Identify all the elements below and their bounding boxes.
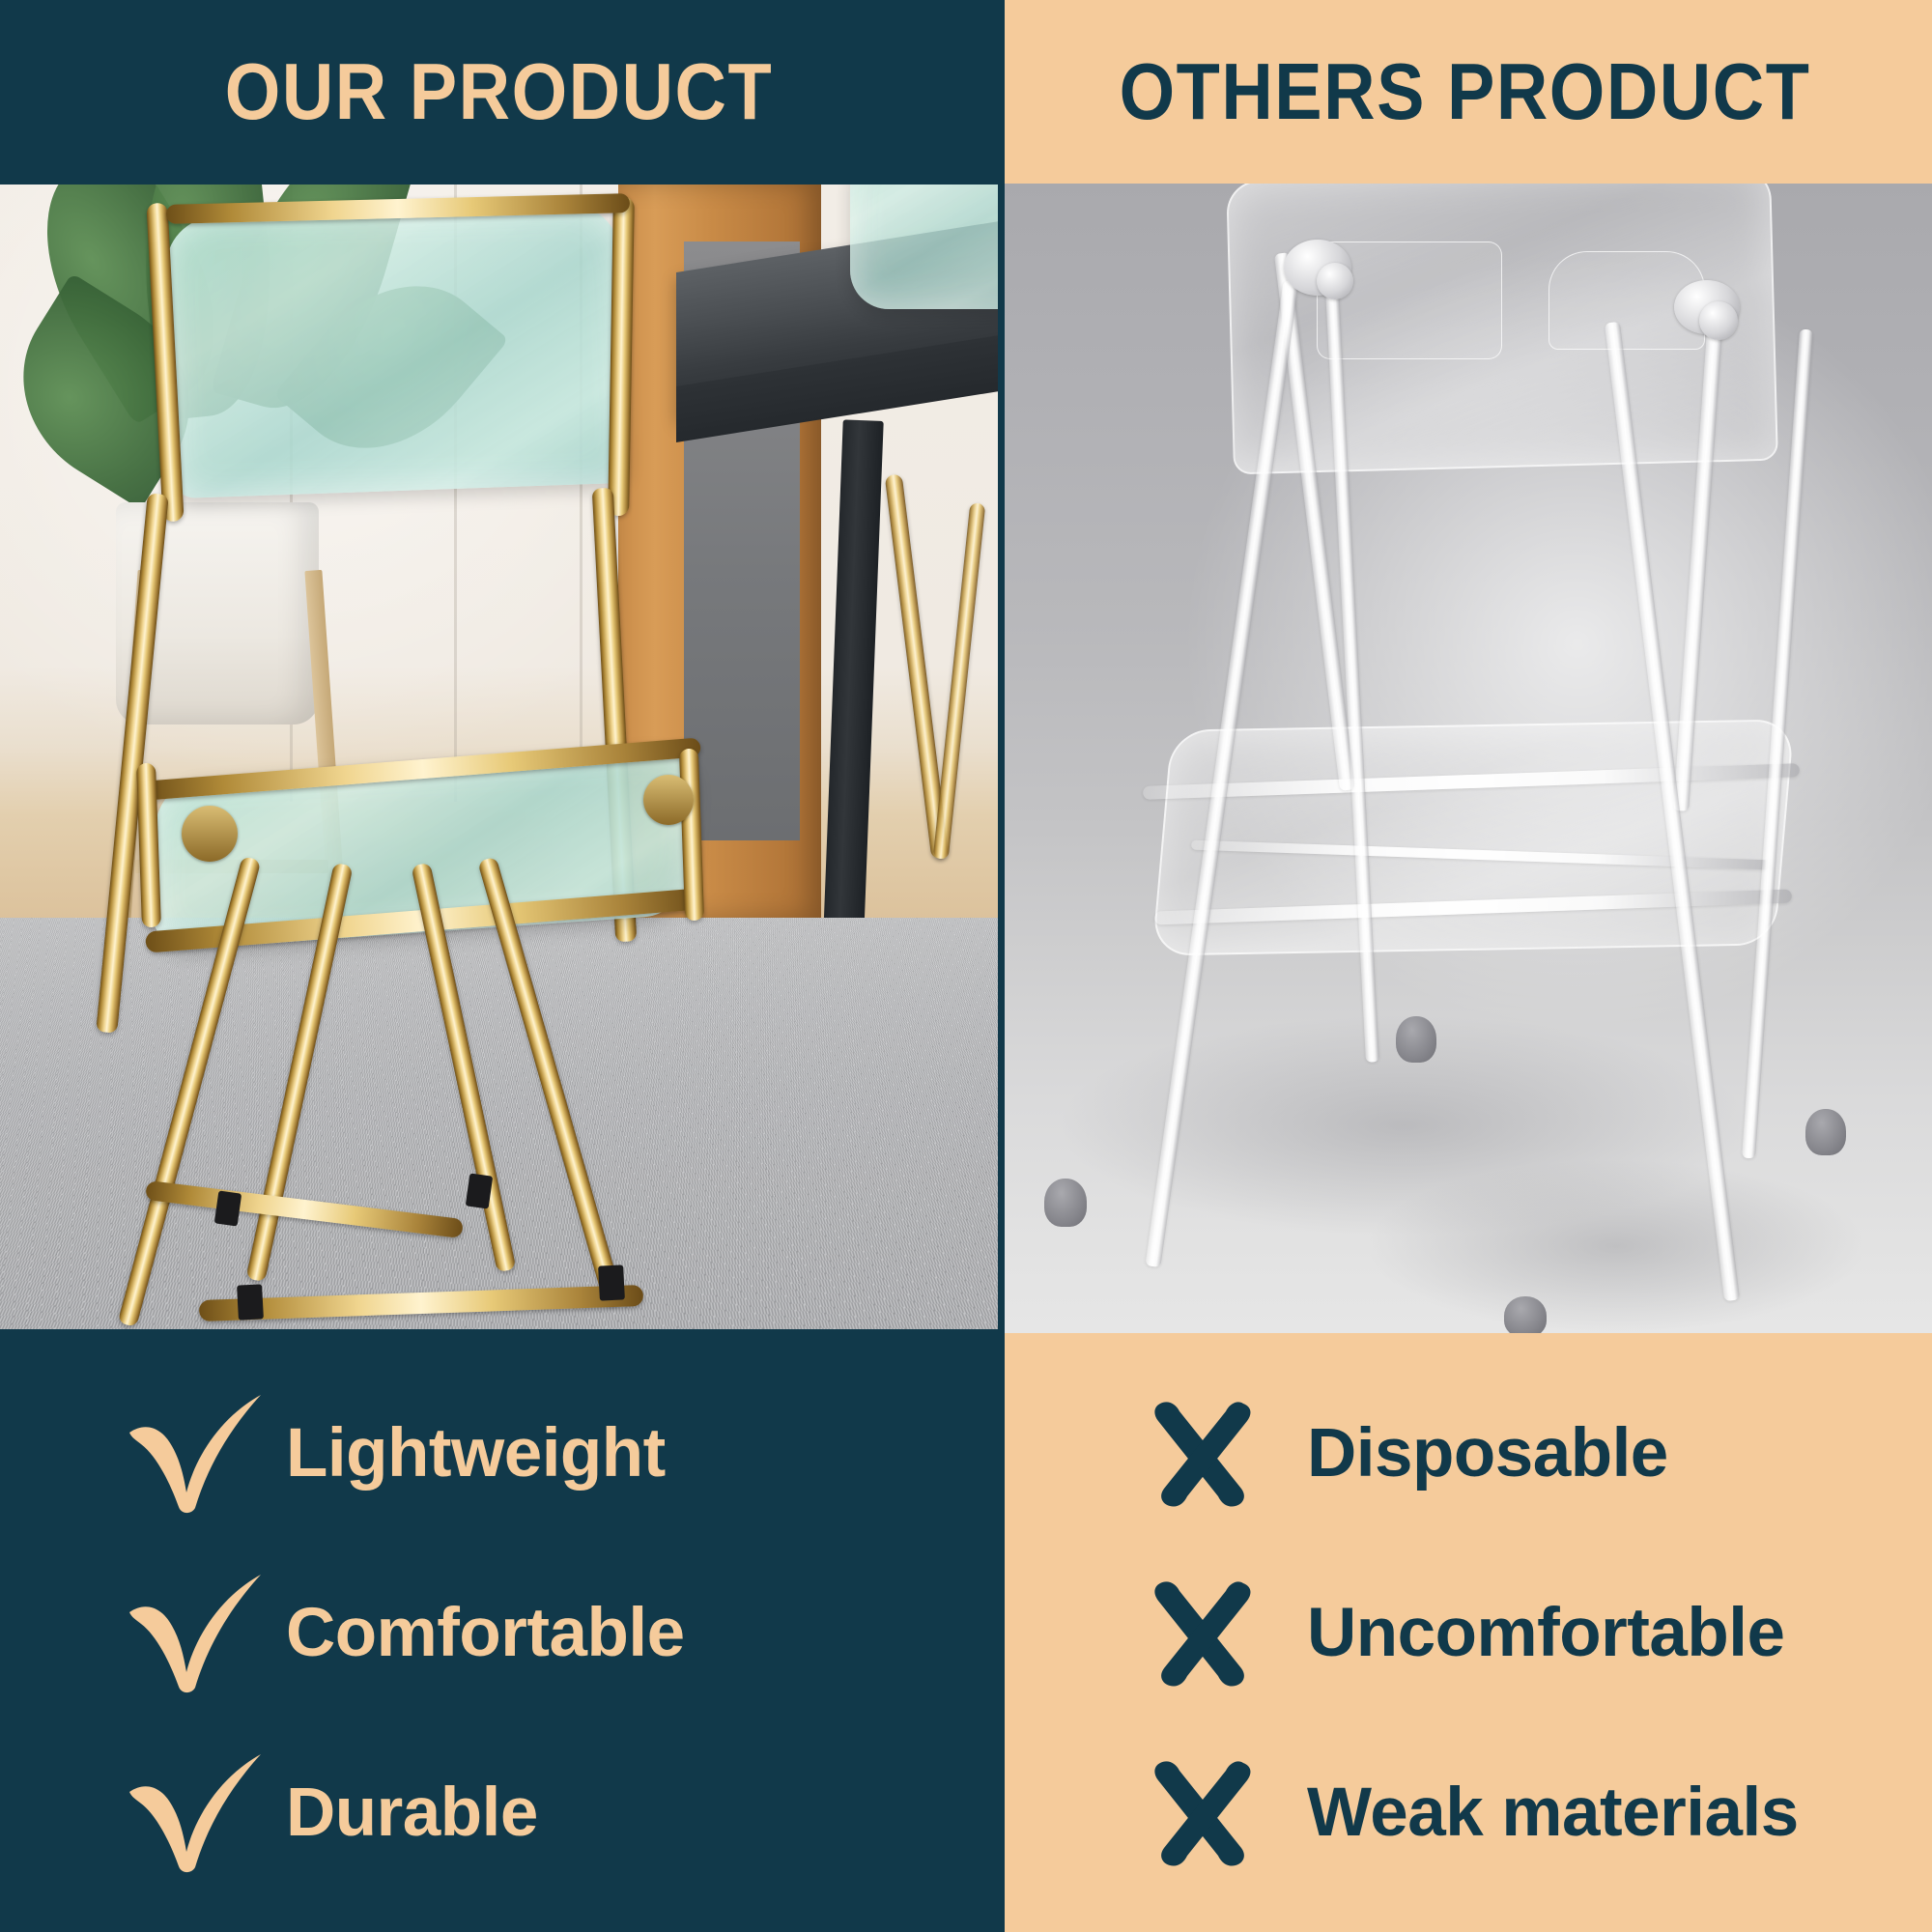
chair-backrest-acrylic xyxy=(164,203,628,498)
chair-back-right-post xyxy=(608,197,635,516)
chair-foot-cap xyxy=(237,1284,264,1320)
feature-label: Lightweight xyxy=(286,1419,666,1488)
our-product-panel: OUR PRODUCT xyxy=(0,0,998,1932)
others-product-panel: OTHERS PRODUCT xyxy=(998,0,1932,1932)
check-icon xyxy=(124,1390,286,1516)
left-photo-top-border xyxy=(0,180,998,185)
chair-front-floor-runner xyxy=(199,1285,643,1321)
our-product-title: OUR PRODUCT xyxy=(225,52,773,132)
feature-row-uncomfortable: Uncomfortable xyxy=(1145,1543,1932,1722)
feature-row-weak-materials: Weak materials xyxy=(1145,1722,1932,1902)
chair-left-hinge xyxy=(182,806,238,862)
rubber-foot xyxy=(1504,1296,1547,1333)
others-product-title: OTHERS PRODUCT xyxy=(1120,52,1811,132)
others-product-feature-list: Disposable Uncomfortable xyxy=(998,1333,1932,1932)
second-chair-leg xyxy=(933,502,986,860)
check-icon xyxy=(124,1570,286,1695)
feature-row-lightweight: Lightweight xyxy=(124,1363,998,1543)
others-product-header: OTHERS PRODUCT xyxy=(998,0,1932,184)
feature-label: Durable xyxy=(286,1778,538,1847)
chair-rear-floor-runner xyxy=(145,1180,464,1238)
cross-icon xyxy=(1145,1396,1307,1510)
cross-icon xyxy=(1145,1576,1307,1690)
rubber-foot xyxy=(1396,1016,1436,1063)
feature-row-durable: Durable xyxy=(124,1722,998,1902)
left-photo-bottom-border xyxy=(0,1329,998,1335)
product-comparison-poster: OUR PRODUCT xyxy=(0,0,1932,1932)
feature-label: Disposable xyxy=(1307,1419,1668,1488)
chair-foot-cap xyxy=(598,1264,625,1300)
our-product-header: OUR PRODUCT xyxy=(0,0,998,184)
feature-row-comfortable: Comfortable xyxy=(124,1543,998,1722)
gold-mint-folding-chair xyxy=(0,184,998,1333)
left-hinge-bolt xyxy=(1317,263,1353,299)
others-product-photo xyxy=(998,184,1932,1333)
feature-label: Uncomfortable xyxy=(1307,1599,1785,1667)
chair-rear-left-leg xyxy=(96,493,169,1034)
rubber-foot xyxy=(1044,1179,1087,1227)
chair-foot-cap xyxy=(466,1173,493,1208)
clear-acrylic-folding-chair xyxy=(998,184,1932,1333)
chair-foot-cap xyxy=(214,1190,241,1226)
feature-row-disposable: Disposable xyxy=(1145,1363,1932,1543)
check-icon xyxy=(124,1749,286,1875)
feature-label: Weak materials xyxy=(1307,1778,1799,1847)
our-product-feature-list: Lightweight Comfortable Durable xyxy=(0,1333,998,1932)
feature-label: Comfortable xyxy=(286,1599,685,1667)
rubber-foot xyxy=(1805,1109,1846,1155)
right-hinge-bolt xyxy=(1699,301,1738,340)
second-chair-acrylic xyxy=(850,184,998,309)
our-product-photo xyxy=(0,184,998,1333)
cross-icon xyxy=(1145,1755,1307,1869)
chair-right-hinge xyxy=(643,775,694,825)
panel-divider xyxy=(998,0,1005,1932)
